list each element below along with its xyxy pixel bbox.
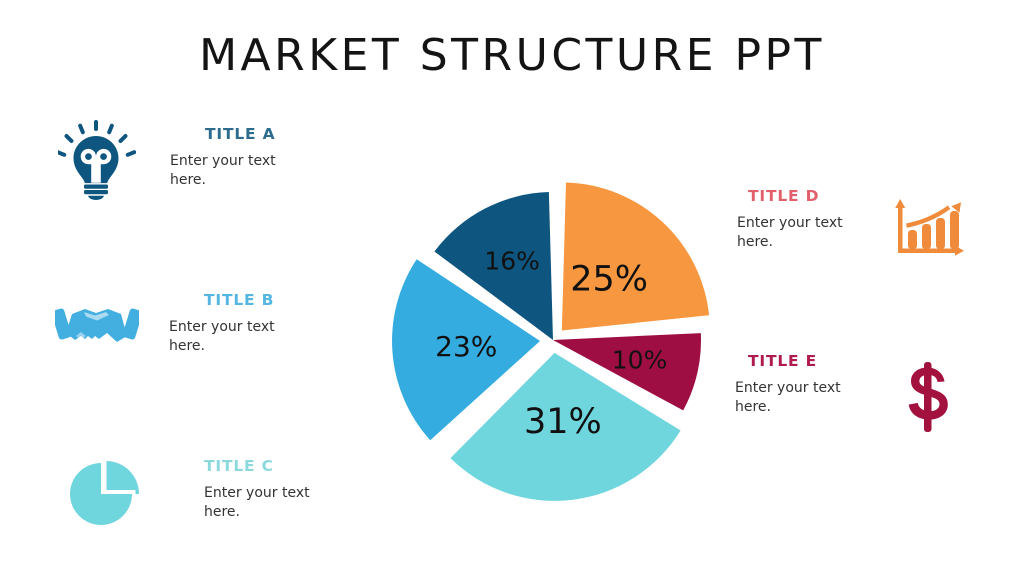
legend-title-c: TITLE C [204, 458, 334, 475]
legend-title-b: TITLE B [204, 292, 299, 309]
page-title: MARKET STRUCTURE PPT [0, 30, 1024, 81]
pie-chart: 25%10%31%23%16% [330, 120, 790, 560]
legend-item-title-d[interactable]: TITLE D Enter your text here. [748, 188, 867, 253]
growth-bar-chart-icon [893, 197, 967, 264]
legend-body-e: Enter your text here. [735, 379, 865, 418]
legend-item-title-b[interactable]: TITLE B Enter your text here. [204, 292, 299, 357]
legend-item-title-e[interactable]: TITLE E Enter your text here. [748, 353, 865, 418]
legend-title-e: TITLE E [748, 353, 865, 370]
legend-body-b: Enter your text here. [169, 318, 299, 357]
legend-title-a: TITLE A [205, 126, 300, 143]
legend-item-title-a[interactable]: TITLE A Enter your text here. [205, 126, 300, 191]
legend-title-d: TITLE D [748, 188, 867, 205]
pie-slice-label-d: 25% [570, 259, 648, 299]
legend-body-d: Enter your text here. [737, 214, 867, 253]
pie-chart-icon [68, 461, 140, 532]
pie-slice-label-c: 31% [524, 402, 602, 442]
legend-item-title-c[interactable]: TITLE C Enter your text here. [204, 458, 334, 523]
pie-slice-d[interactable] [562, 183, 709, 331]
legend-body-c: Enter your text here. [204, 484, 334, 523]
slide-canvas: MARKET STRUCTURE PPT 25%10%31%23%16% [0, 0, 1024, 576]
handshake-icon [55, 296, 139, 367]
legend-body-a: Enter your text here. [170, 152, 300, 191]
lightbulb-icon [58, 120, 136, 205]
dollar-sign-icon [897, 362, 959, 437]
pie-slice-label-e: 10% [612, 345, 668, 374]
pie-slice-label-b: 23% [435, 330, 497, 363]
pie-slice-label-a: 16% [484, 247, 540, 276]
